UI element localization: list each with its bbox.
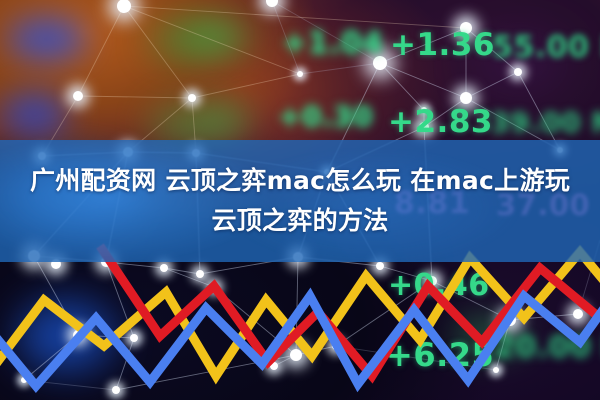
title-line-2: 云顶之弈的方法 (211, 203, 388, 239)
cover-image-canvas: +1.04+0.30+1.3655.00 M+2.8339.00 M8.8137… (0, 0, 600, 400)
title-line-1: 广州配资网 云顶之弈mac怎么玩 在mac上游玩 (30, 163, 570, 199)
title-block: 广州配资网 云顶之弈mac怎么玩 在mac上游玩 云顶之弈的方法 (0, 140, 600, 262)
